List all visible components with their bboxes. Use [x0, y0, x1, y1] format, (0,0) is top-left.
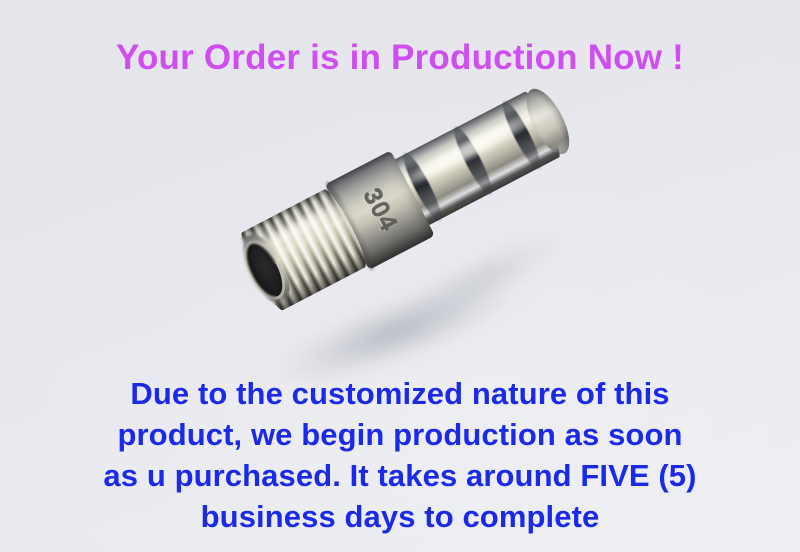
notice-line: as u purchased. It takes around FIVE (5): [0, 455, 800, 496]
notice-line: product, we begin production as soon: [0, 414, 800, 455]
notice-image: Your Order is in Production Now ! 304: [0, 0, 800, 552]
notice-line: Due to the customized nature of this: [0, 373, 800, 414]
page-title: Your Order is in Production Now !: [0, 38, 800, 77]
production-notice-text: Due to the customized nature of this pro…: [0, 373, 800, 537]
product-photo: 304: [228, 150, 608, 375]
notice-line: business days to complete: [0, 496, 800, 537]
